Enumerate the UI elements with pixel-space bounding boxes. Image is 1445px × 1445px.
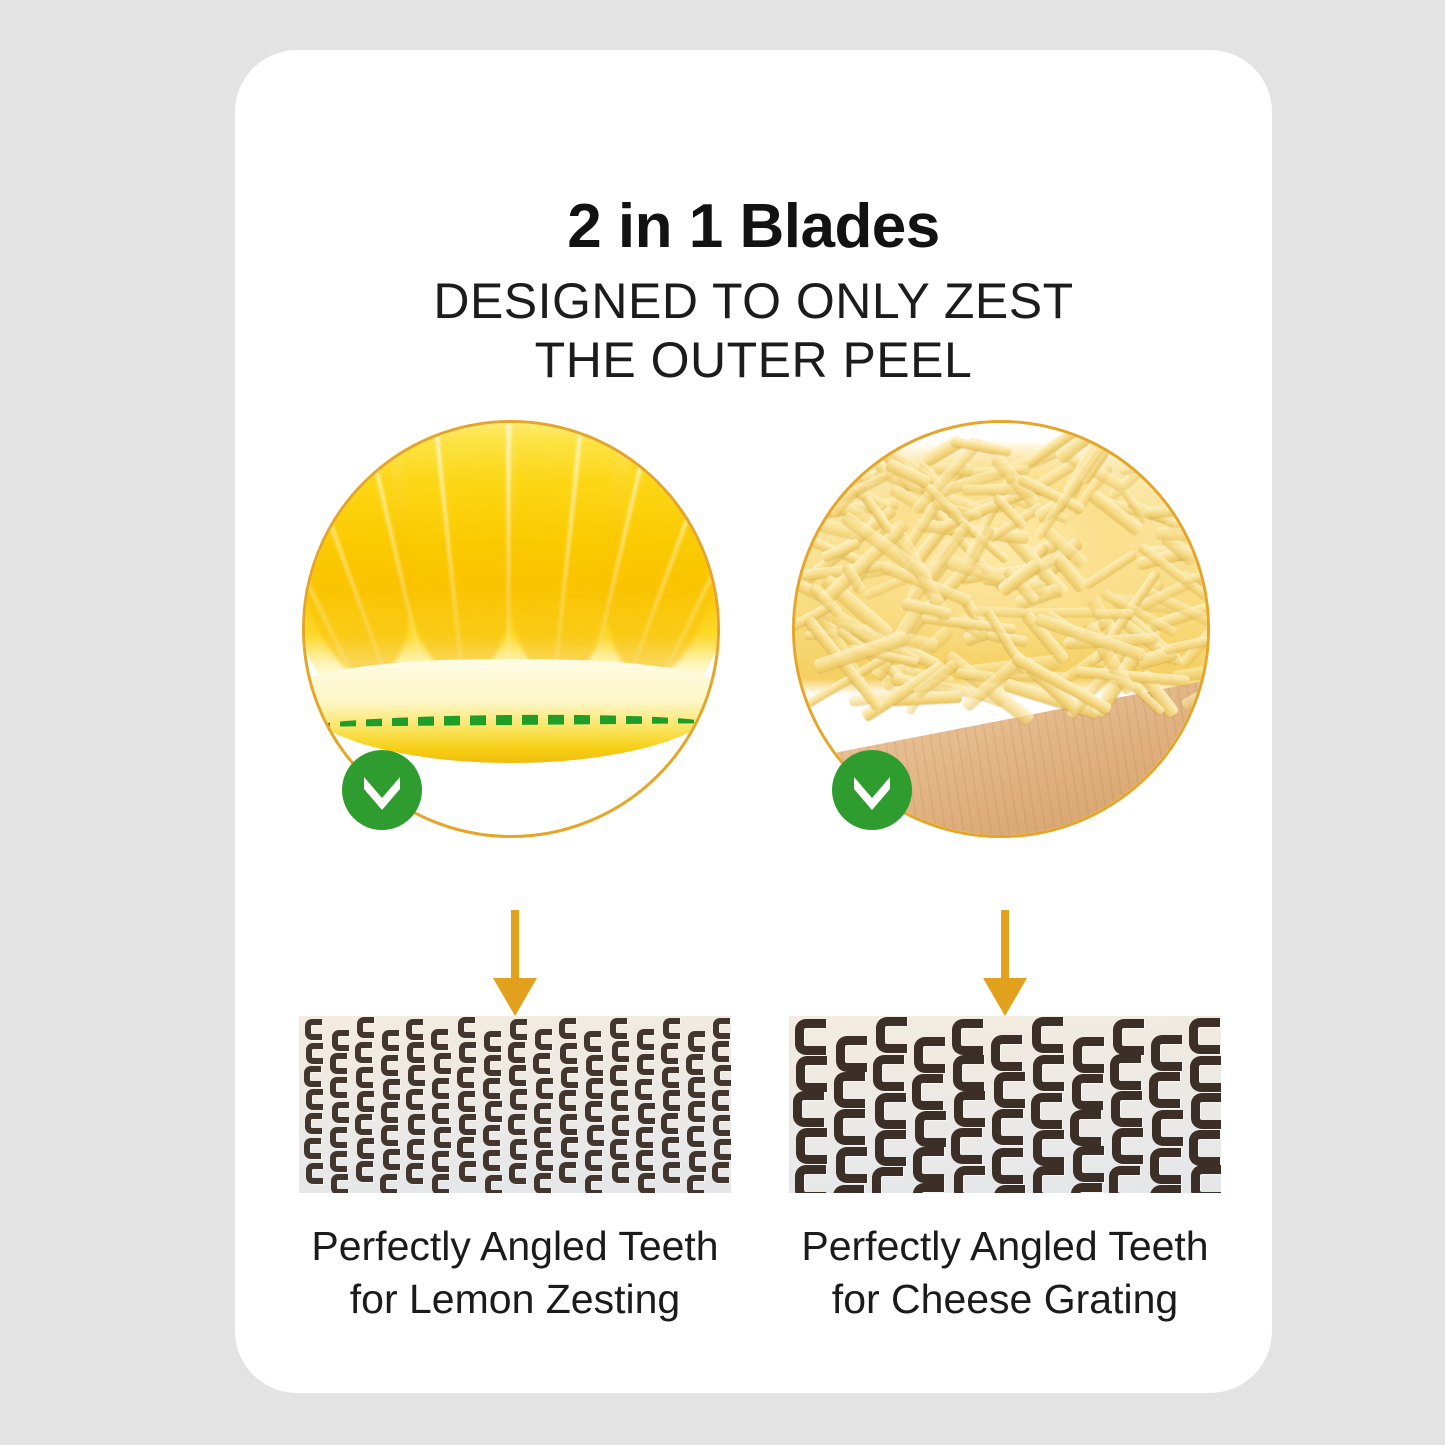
lemon-pith-rind [302, 659, 720, 763]
lemon-photo-circle-wrap [302, 420, 720, 838]
caption-line-1: Perfectly Angled Teeth [280, 1220, 750, 1273]
caption-lemon-zesting: Perfectly Angled Teeth for Lemon Zesting [280, 1220, 750, 1327]
caption-line-2: for Cheese Grating [770, 1273, 1240, 1326]
arrow-down-icon [280, 910, 750, 1018]
coarse-grater-blade-texture [789, 1016, 1221, 1193]
blade-tooth-grid [299, 1016, 731, 1193]
cheese-photo-circle-wrap [792, 420, 1210, 838]
caption-line-2: for Lemon Zesting [280, 1273, 750, 1326]
chevron-down-icon [342, 750, 422, 830]
infographic-canvas: 2 in 1 Blades DESIGNED TO ONLY ZEST THE … [0, 0, 1445, 1445]
chevron-down-icon [832, 750, 912, 830]
caption-cheese-grating: Perfectly Angled Teeth for Cheese Gratin… [770, 1220, 1240, 1327]
lemon-artwork [302, 420, 720, 753]
panel-lemon-zesting: Perfectly Angled Teeth for Lemon Zesting [280, 50, 750, 1393]
blade-tooth-grid [789, 1016, 1221, 1193]
arrow-down-icon [770, 910, 1240, 1018]
feature-panels: Perfectly Angled Teeth for Lemon Zesting [235, 50, 1272, 1393]
panel-cheese-grating: Perfectly Angled Teeth for Cheese Gratin… [770, 50, 1240, 1393]
fine-zester-blade-texture [299, 1016, 731, 1193]
caption-line-1: Perfectly Angled Teeth [770, 1220, 1240, 1273]
product-feature-card: 2 in 1 Blades DESIGNED TO ONLY ZEST THE … [235, 50, 1272, 1393]
